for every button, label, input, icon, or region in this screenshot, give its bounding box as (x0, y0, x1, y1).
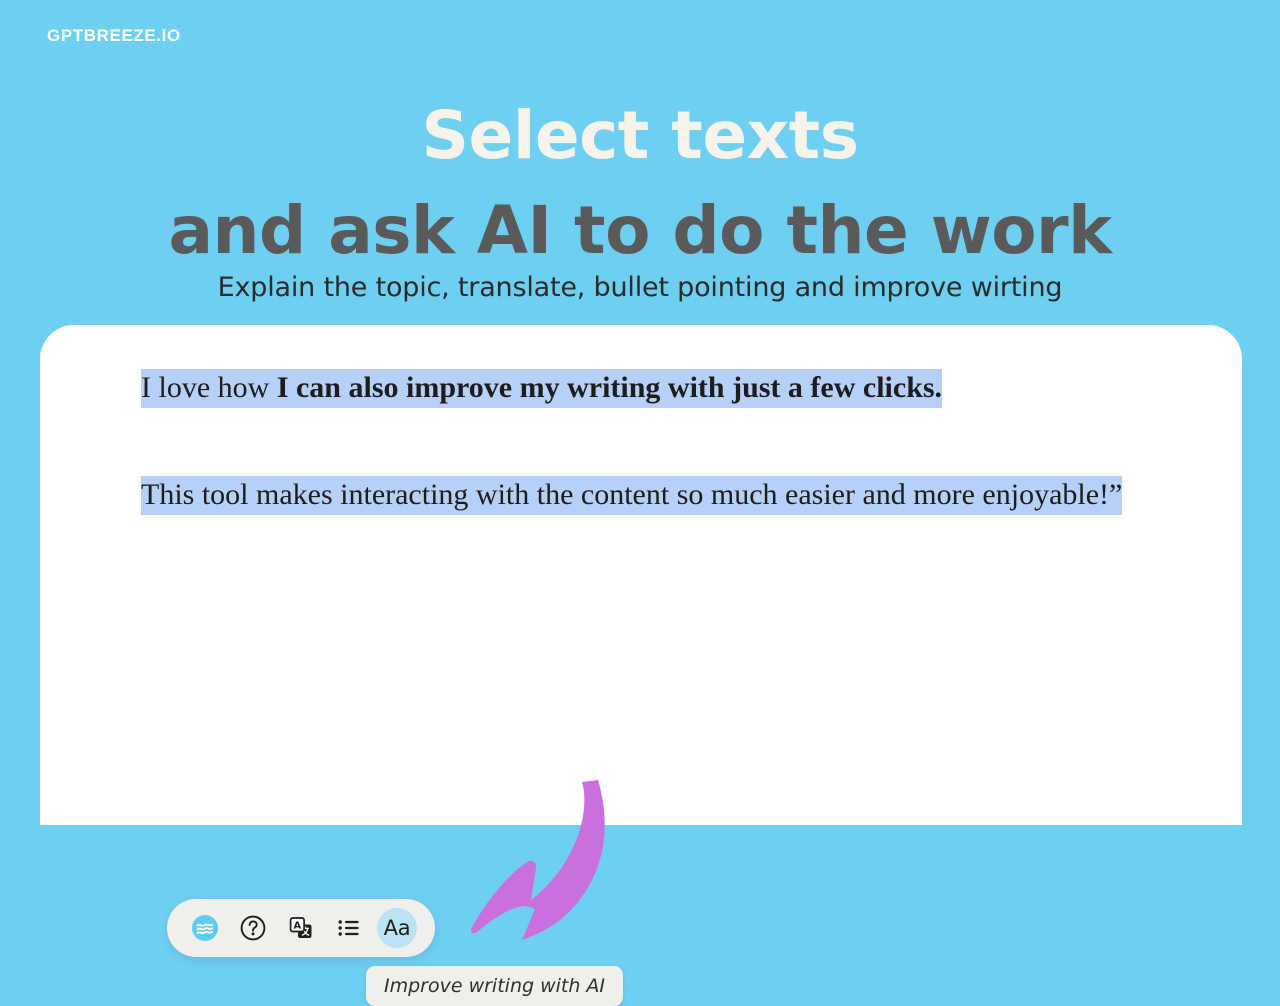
breeze-logo-icon (191, 914, 219, 942)
tooltip-improve-writing: Improve writing with AI (366, 966, 623, 1006)
explain-topic-button[interactable] (233, 908, 273, 948)
font-size-aa-icon: Aa (384, 918, 411, 939)
svg-text:A: A (294, 921, 302, 932)
demo-card: I love how I can also improve my writing… (40, 325, 1242, 825)
bullet-list-button[interactable] (329, 908, 369, 948)
headline-line-1: Select texts (0, 88, 1280, 183)
hero-subtitle: Explain the topic, translate, bullet poi… (0, 272, 1280, 303)
document-paragraph-1[interactable]: I love how I can also improve my writing… (141, 362, 1151, 413)
translate-icon: A (287, 914, 315, 942)
page-title: Select texts and ask AI to do the work (0, 88, 1280, 278)
improve-writing-button[interactable]: Aa (377, 908, 417, 948)
curved-arrow-annotation (465, 780, 645, 965)
headline-line-2: and ask AI to do the work (0, 183, 1280, 278)
document-paragraph-2[interactable]: This tool makes interacting with the con… (141, 469, 1151, 520)
document-body: I love how I can also improve my writing… (141, 362, 1151, 520)
question-mark-icon (239, 914, 267, 942)
selection-toolbar[interactable]: A Aa (167, 899, 435, 957)
bullet-list-icon (335, 914, 363, 942)
paragraph-1-bold-text: I can also improve my writing with just … (277, 369, 942, 408)
translate-button[interactable]: A (281, 908, 321, 948)
paragraph-2-text: This tool makes interacting with the con… (141, 476, 1122, 515)
breeze-logo-button[interactable] (185, 908, 225, 948)
brand-logo-text: GPTBREEZE.IO (47, 26, 181, 46)
paragraph-1-plain-text: I love how (141, 369, 277, 408)
